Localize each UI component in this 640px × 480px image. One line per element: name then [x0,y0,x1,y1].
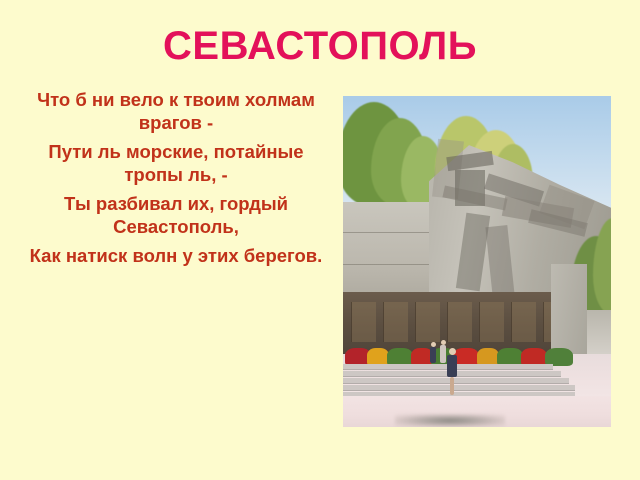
memorial-plaque [351,302,376,342]
poem-line-3: Ты разбивал их, гордый Севастополь, [18,192,334,238]
figure-head [449,348,456,355]
figure-body [430,347,436,363]
memorial-photo-content [343,96,611,427]
memorial-plaque [511,302,536,342]
figure-legs [450,377,454,395]
presentation-slide: СЕВАСТОПОЛЬ Что б ни вело к твоим холмам… [0,0,640,480]
poem-line-2: Пути ль морские, потайные тропы ль, - [18,140,334,186]
memorial-plaque [415,302,440,342]
memorial-plaque [383,302,408,342]
figure-body [440,345,446,363]
memorial-steps [343,364,575,398]
figure-body [447,355,457,377]
memorial-plaque [479,302,504,342]
poem-line-4: Как натиск волн у этих берегов. [18,244,334,267]
memorial-plaque [447,302,472,342]
memorial-photo [343,96,611,427]
flower-bed [343,342,575,366]
foreground-blur [395,414,505,427]
poem-line-1: Что б ни вело к твоим холмам врагов - [18,88,334,134]
poem-text-block: Что б ни вело к твоим холмам врагов - Пу… [18,88,334,267]
slide-title: СЕВАСТОПОЛЬ [0,24,640,68]
